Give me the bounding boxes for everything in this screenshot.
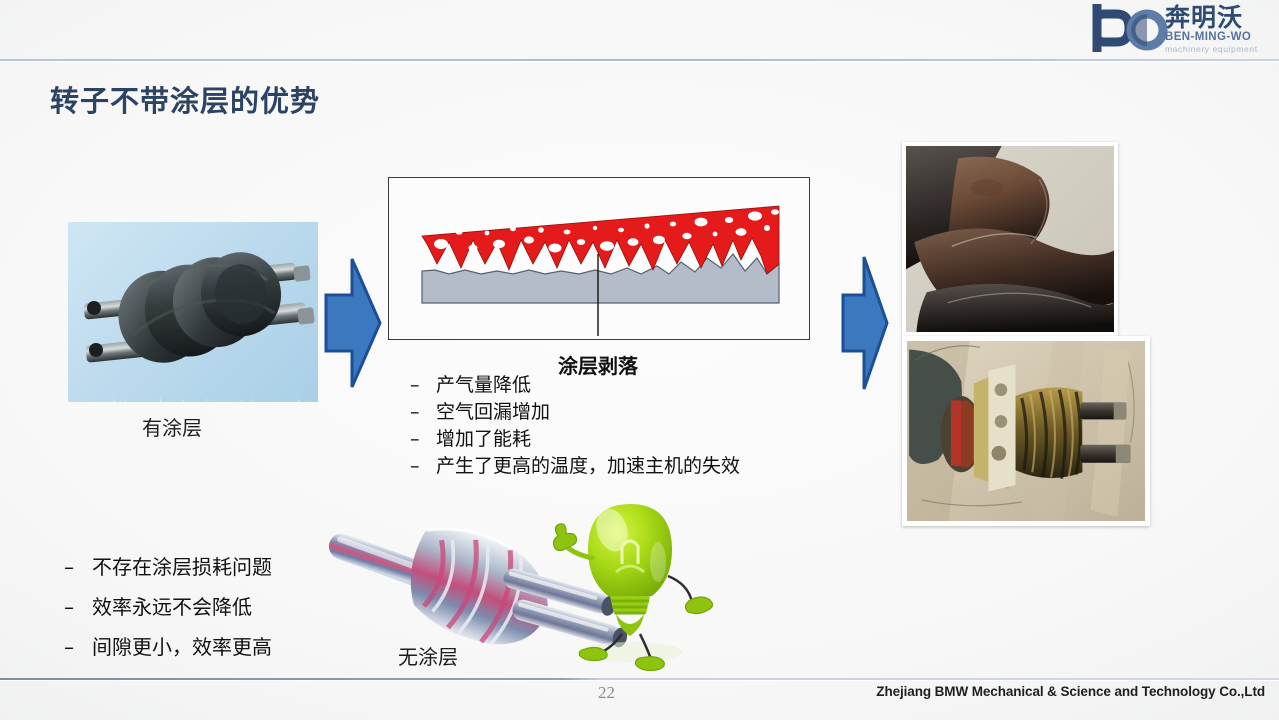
screw-rotor-illustration <box>68 222 318 402</box>
list-item-label: 间隙更小，效率更高 <box>92 635 272 659</box>
list-item: –效率永远不会降低 <box>64 587 272 627</box>
list-item-label: 效率永远不会降低 <box>92 595 252 619</box>
slide-canvas: 奔明沃 BEN-MING-WO machinery equipment 转子不带… <box>0 0 1279 720</box>
bullet-marker: – <box>410 372 436 399</box>
list-item: –产生了更高的温度，加速主机的失效 <box>410 453 740 480</box>
coated-rotor-image <box>68 222 318 402</box>
list-item-label: 增加了能耗 <box>436 428 531 450</box>
worn-rotor-photo <box>902 142 1118 336</box>
list-item-label: 产生了更高的温度，加速主机的失效 <box>436 455 740 477</box>
footer-divider <box>0 678 1279 680</box>
bullet-marker: – <box>64 627 92 667</box>
right-arrow-icon-2 <box>840 253 890 393</box>
list-item-label: 产气量降低 <box>436 374 531 396</box>
airend-photo <box>902 336 1150 526</box>
coating-consequences-list: –产气量降低 –空气回漏增加 –增加了能耗 –产生了更高的温度，加速主机的失效 <box>410 372 740 480</box>
logo-chinese-name: 奔明沃 <box>1165 5 1258 31</box>
list-item-label: 不存在涂层损耗问题 <box>92 555 272 579</box>
list-item: –产气量降低 <box>410 372 740 399</box>
right-arrow-icon-1 <box>322 255 382 391</box>
page-number: 22 <box>598 683 615 703</box>
bullet-marker: – <box>410 453 436 480</box>
list-item: –空气回漏增加 <box>410 399 740 426</box>
list-item: –增加了能耗 <box>410 426 740 453</box>
list-item-label: 空气回漏增加 <box>436 401 550 423</box>
bullet-marker: – <box>410 426 436 453</box>
uncoated-rotor-illustration <box>300 498 720 678</box>
uncoated-caption: 无涂层 <box>398 641 458 670</box>
logo-english-name: BEN-MING-WO <box>1165 31 1258 44</box>
page-title: 转子不带涂层的优势 <box>50 78 320 120</box>
logo-tagline: machinery equipment <box>1165 44 1258 55</box>
list-item: –间隙更小，效率更高 <box>64 627 272 667</box>
coating-delamination-diagram <box>388 177 810 340</box>
company-logo: 奔明沃 BEN-MING-WO machinery equipment <box>1091 4 1271 56</box>
advantages-list: –不存在涂层损耗问题 –效率永远不会降低 –间隙更小，效率更高 <box>64 547 272 667</box>
footer-company-name: Zhejiang BMW Mechanical & Science and Te… <box>876 684 1265 699</box>
logo-wordmark: 奔明沃 BEN-MING-WO machinery equipment <box>1165 4 1258 55</box>
bullet-marker: – <box>64 587 92 627</box>
bullet-marker: – <box>64 547 92 587</box>
bo-monogram-icon <box>1091 4 1169 52</box>
bullet-marker: – <box>410 399 436 426</box>
coated-caption: 有涂层 <box>142 412 202 441</box>
list-item: –不存在涂层损耗问题 <box>64 547 272 587</box>
header-divider <box>0 59 1279 61</box>
